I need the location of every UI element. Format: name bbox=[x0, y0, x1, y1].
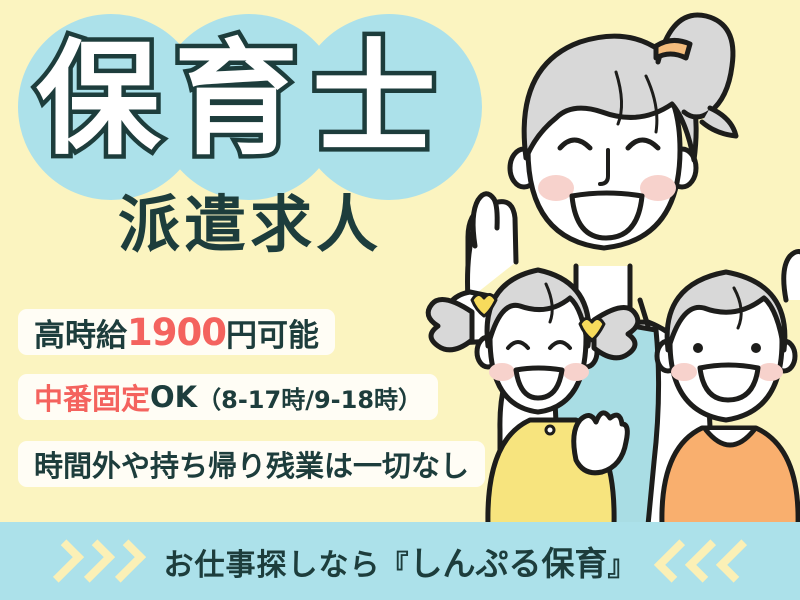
feature-pill-shift: 中番固定OK（8-17時/9-18時） bbox=[18, 374, 438, 420]
chevron-left-icon bbox=[715, 539, 758, 582]
banner-open-bracket: 『 bbox=[380, 549, 409, 582]
brand-name-label: しんぷる保育 bbox=[410, 544, 608, 583]
shift-highlight-label: 中番固定 bbox=[34, 376, 150, 418]
poster-root: 保育士 派遣求人 高時給1900円可能 中番固定OK（8-17時/9-18時） … bbox=[0, 0, 800, 600]
shift-ok-label: OK bbox=[150, 380, 197, 414]
bottom-banner: お仕事探しなら『しんぷる保育』 bbox=[0, 522, 800, 600]
overtime-label: 時間外や持ち帰り残業は一切なし bbox=[34, 443, 469, 485]
page-title: 保育士 bbox=[36, 38, 486, 162]
chevrons-right-group bbox=[50, 543, 137, 579]
feature-pill-wage: 高時給1900円可能 bbox=[18, 309, 335, 355]
shift-hours-label: （8-17時/9-18時） bbox=[197, 380, 422, 415]
banner-message: お仕事探しなら『しんぷる保育』 bbox=[163, 537, 636, 585]
chevrons-left-group bbox=[663, 543, 750, 579]
banner-lead-label: お仕事探しなら bbox=[163, 548, 380, 583]
wage-suffix-label: 円可能 bbox=[226, 310, 319, 355]
feature-pill-overtime: 時間外や持ち帰り残業は一切なし bbox=[18, 441, 485, 487]
banner-close-bracket: 』 bbox=[608, 549, 637, 582]
page-subtitle: 派遣求人 bbox=[118, 194, 382, 256]
wage-amount-label: 1900 bbox=[127, 311, 226, 354]
wage-prefix-label: 高時給 bbox=[34, 310, 127, 355]
chevron-right-icon bbox=[103, 539, 146, 582]
